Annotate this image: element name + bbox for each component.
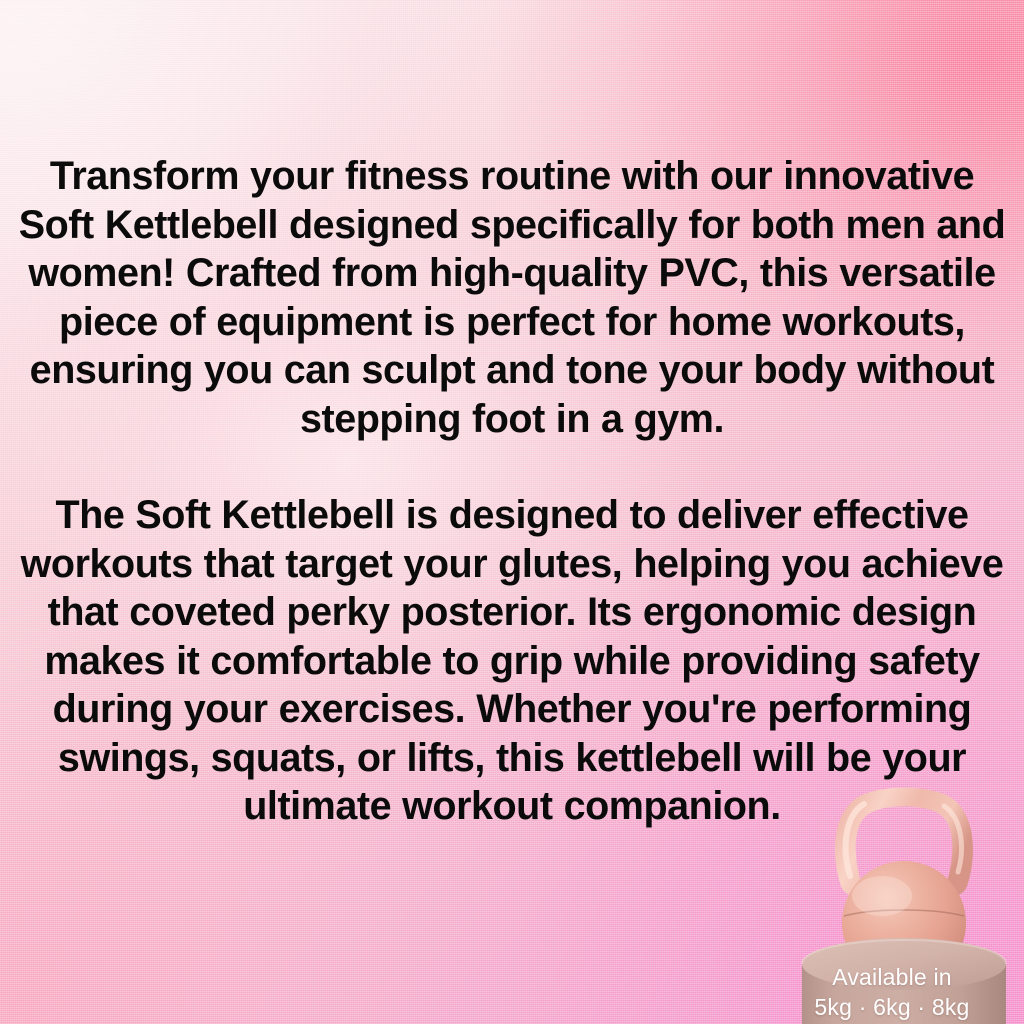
product-description-text: Transform your fitness routine with our …	[12, 152, 1012, 831]
paragraph-spacer	[12, 443, 1012, 491]
availability-caption: Available in 5kg · 6kg · 8kg	[794, 962, 990, 1022]
availability-caption-line-2: 5kg · 6kg · 8kg	[794, 992, 990, 1022]
availability-caption-line-1: Available in	[794, 962, 990, 992]
description-paragraph-1: Transform your fitness routine with our …	[12, 152, 1012, 443]
description-paragraph-2: The Soft Kettlebell is designed to deliv…	[12, 491, 1012, 831]
kettlebell-highlight	[852, 876, 912, 916]
product-description-poster: Transform your fitness routine with our …	[0, 0, 1024, 1024]
